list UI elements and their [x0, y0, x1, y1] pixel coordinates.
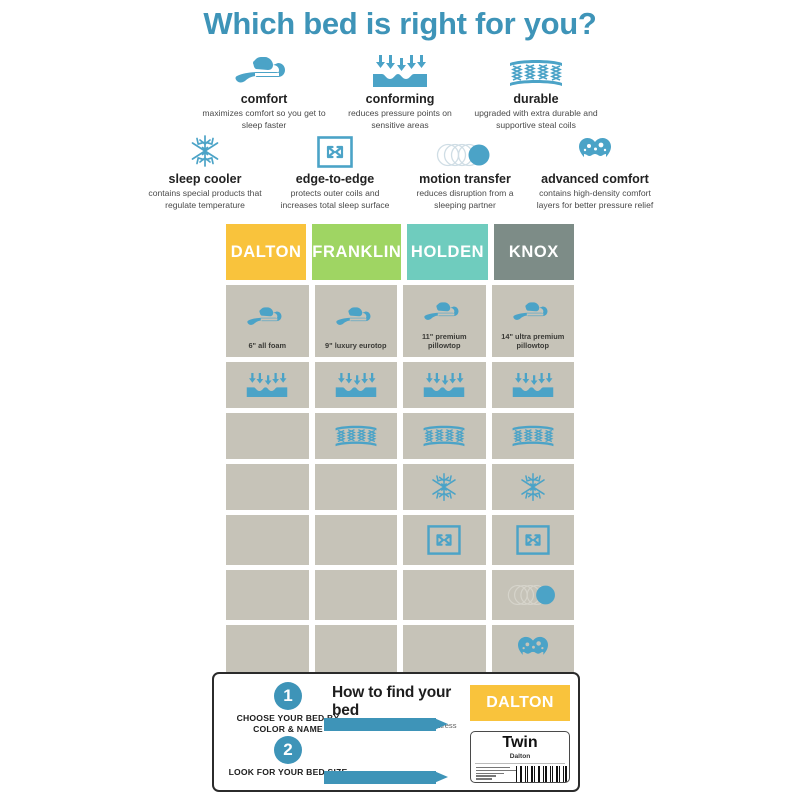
grid-row-comfort: 6" all foam 9" luxury eurotop — [226, 285, 574, 357]
hand-comfort-icon — [235, 52, 293, 88]
brand-tag-dalton: DALTON — [470, 685, 570, 721]
motion-transfer-icon — [507, 583, 559, 607]
feature-desc: contains special products that regulate … — [144, 188, 266, 211]
barcode-icon — [516, 766, 570, 783]
grid-cell-motion-transfer-knox[interactable] — [492, 570, 575, 620]
grid-cell-edge-to-edge-franklin[interactable] — [315, 515, 398, 565]
grid-row-edge-to-edge — [226, 515, 574, 565]
feature-name: edge-to-edge — [296, 172, 374, 186]
grid-row-conforming — [226, 362, 574, 408]
feature-name: motion transfer — [419, 172, 511, 186]
feature-name: durable — [513, 92, 558, 106]
mattress-size-label: Twin Dalton — [470, 731, 570, 783]
arrow-right-icon — [324, 771, 452, 784]
snowflake-icon — [429, 472, 459, 502]
grid-cell-durable-dalton[interactable] — [226, 413, 309, 459]
feature-name: sleep cooler — [169, 172, 242, 186]
grid-cell-advanced-comfort-knox[interactable] — [492, 625, 575, 675]
grid-cell-comfort-dalton[interactable]: 6" all foam — [226, 285, 309, 357]
infographic-page: Which bed is right for you? comfort maxi… — [0, 0, 800, 800]
grid-cell-comfort-franklin[interactable]: 9" luxury eurotop — [315, 285, 398, 357]
feature-desc: contains high-density comfort layers for… — [534, 188, 656, 211]
divider — [475, 763, 565, 764]
feature-desc: protects outer coils and increases total… — [274, 188, 396, 211]
product-desc-dalton: 6" all foam — [245, 342, 289, 357]
feature-desc: reduces disruption from a sleeping partn… — [404, 188, 526, 211]
conforming-arrows-icon — [246, 372, 288, 398]
coils-durable-icon — [511, 424, 555, 448]
feature-durable: durable upgraded with extra durable and … — [468, 52, 604, 132]
grid-row-motion-transfer — [226, 570, 574, 620]
product-desc-holden: 11" premium pillowtop — [403, 333, 486, 357]
feature-row-top: comfort maximizes comfort so you get to … — [196, 52, 604, 132]
edge-to-edge-icon — [427, 525, 461, 555]
label-footer — [471, 766, 569, 783]
grid-cell-motion-transfer-franklin[interactable] — [315, 570, 398, 620]
size-text: Twin — [471, 734, 569, 752]
snowflake-icon — [518, 472, 548, 502]
product-header-holden[interactable]: HOLDEN — [407, 224, 487, 280]
grid-cell-advanced-comfort-franklin[interactable] — [315, 625, 398, 675]
grid-cell-comfort-knox[interactable]: 14" ultra premium pillowtop — [492, 285, 575, 357]
grid-cell-conforming-holden[interactable] — [403, 362, 486, 408]
comparison-grid: DALTON FRANKLIN HOLDEN KNOX 6" all foam — [226, 224, 574, 680]
grid-cell-edge-to-edge-dalton[interactable] — [226, 515, 309, 565]
feature-comfort: comfort maximizes comfort so you get to … — [196, 52, 332, 132]
feature-desc: upgraded with extra durable and supporti… — [472, 108, 600, 131]
feature-edge-to-edge: edge-to-edge protects outer coils and in… — [270, 132, 400, 212]
conforming-arrows-icon — [372, 52, 428, 88]
grid-row-advanced-comfort — [226, 625, 574, 675]
hand-comfort-icon — [424, 291, 464, 333]
heart-comfort-icon — [517, 635, 549, 665]
grid-cell-motion-transfer-dalton[interactable] — [226, 570, 309, 620]
grid-cell-durable-knox[interactable] — [492, 413, 575, 459]
model-text: Dalton — [471, 753, 569, 760]
product-header-knox[interactable]: KNOX — [494, 224, 574, 280]
conforming-arrows-icon — [423, 372, 465, 398]
grid-cell-edge-to-edge-holden[interactable] — [403, 515, 486, 565]
hand-comfort-icon — [336, 291, 376, 342]
motion-transfer-icon — [436, 132, 494, 168]
feature-desc: maximizes comfort so you get to sleep fa… — [200, 108, 328, 131]
feature-row-bottom: sleep cooler contains special products t… — [140, 132, 660, 212]
heart-comfort-icon — [578, 132, 612, 168]
product-desc-knox: 14" ultra premium pillowtop — [492, 333, 575, 357]
panel-title: How to find your bed — [332, 684, 472, 720]
grid-cell-sleep-cooler-franklin[interactable] — [315, 464, 398, 510]
grid-row-sleep-cooler — [226, 464, 574, 510]
grid-cell-conforming-franklin[interactable] — [315, 362, 398, 408]
arrow-right-icon — [324, 718, 452, 731]
feature-name: comfort — [241, 92, 288, 106]
grid-cell-motion-transfer-holden[interactable] — [403, 570, 486, 620]
step-number-badge: 1 — [274, 682, 302, 710]
grid-header-row: DALTON FRANKLIN HOLDEN KNOX — [226, 224, 574, 280]
grid-cell-sleep-cooler-knox[interactable] — [492, 464, 575, 510]
grid-cell-comfort-holden[interactable]: 11" premium pillowtop — [403, 285, 486, 357]
feature-motion-transfer: motion transfer reduces disruption from … — [400, 132, 530, 212]
coils-durable-icon — [508, 52, 564, 88]
feature-desc: reduces pressure points on sensitive are… — [336, 108, 464, 131]
product-header-franklin[interactable]: FRANKLIN — [312, 224, 401, 280]
conforming-arrows-icon — [335, 372, 377, 398]
product-header-dalton[interactable]: DALTON — [226, 224, 306, 280]
product-desc-franklin: 9" luxury eurotop — [322, 342, 389, 357]
conforming-arrows-icon — [512, 372, 554, 398]
feature-name: conforming — [366, 92, 435, 106]
feature-conforming: conforming reduces pressure points on se… — [332, 52, 468, 132]
feature-name: advanced comfort — [541, 172, 649, 186]
feature-advanced-comfort: advanced comfort contains high-density c… — [530, 132, 660, 212]
grid-cell-edge-to-edge-knox[interactable] — [492, 515, 575, 565]
how-to-find-panel: How to find your bed Look for these labe… — [212, 672, 580, 792]
grid-cell-advanced-comfort-holden[interactable] — [403, 625, 486, 675]
grid-cell-durable-holden[interactable] — [403, 413, 486, 459]
fineprint-lines — [476, 766, 516, 783]
snowflake-icon — [188, 132, 222, 168]
coils-durable-icon — [422, 424, 466, 448]
edge-to-edge-icon — [317, 132, 353, 168]
grid-row-durable — [226, 413, 574, 459]
grid-cell-advanced-comfort-dalton[interactable] — [226, 625, 309, 675]
page-title: Which bed is right for you? — [0, 6, 800, 42]
edge-to-edge-icon — [516, 525, 550, 555]
grid-cell-conforming-dalton[interactable] — [226, 362, 309, 408]
hand-comfort-icon — [513, 291, 553, 333]
grid-cell-sleep-cooler-dalton[interactable] — [226, 464, 309, 510]
grid-cell-conforming-knox[interactable] — [492, 362, 575, 408]
coils-durable-icon — [334, 424, 378, 448]
step-number-badge: 2 — [274, 736, 302, 764]
hand-comfort-icon — [247, 291, 287, 342]
grid-cell-durable-franklin[interactable] — [315, 413, 398, 459]
grid-cell-sleep-cooler-holden[interactable] — [403, 464, 486, 510]
feature-sleep-cooler: sleep cooler contains special products t… — [140, 132, 270, 212]
